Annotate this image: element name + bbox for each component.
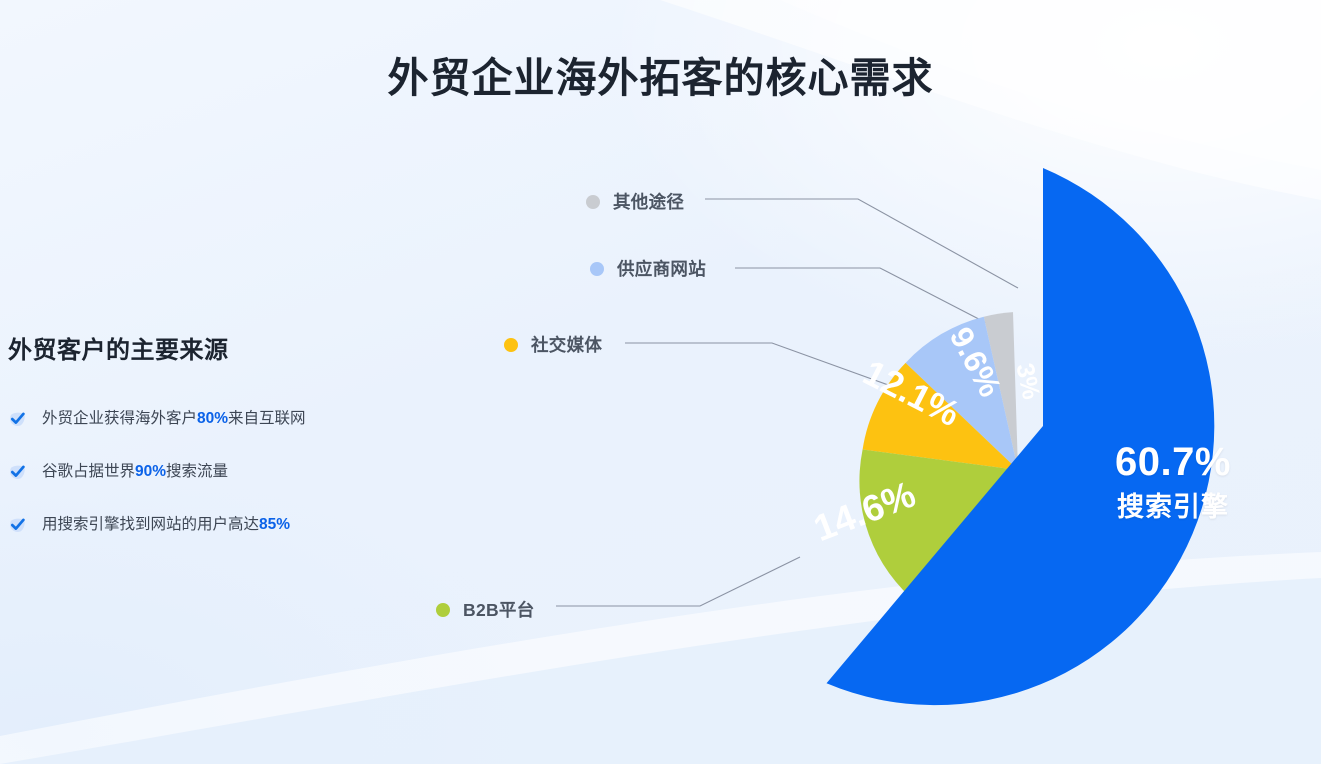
pie-chart: 3% 9.6% 12.1% 14.6%	[0, 0, 1321, 764]
legend-dot-b2b	[436, 603, 450, 617]
legend-item-other[interactable]: 其他途径	[586, 189, 684, 214]
slice-name-search-engine: 搜索引擎	[1063, 494, 1283, 521]
legend-dot-supplier	[590, 262, 604, 276]
legend-dot-other	[586, 195, 600, 209]
legend-label-b2b: B2B平台	[463, 597, 535, 622]
slide-canvas: 外贸企业海外拓客的核心需求 外贸客户的主要来源 外贸企业获得海外客户80%来自互…	[0, 0, 1321, 764]
leader-line-other	[705, 199, 1018, 288]
legend-item-supplier[interactable]: 供应商网站	[590, 256, 706, 281]
legend-label-social: 社交媒体	[531, 332, 602, 357]
leader-line-b2b	[556, 557, 800, 606]
legend-label-supplier: 供应商网站	[617, 256, 706, 281]
legend-item-b2b[interactable]: B2B平台	[436, 597, 535, 622]
leader-line-supplier	[735, 268, 1000, 330]
legend-item-social[interactable]: 社交媒体	[504, 332, 602, 357]
slice-label-search-engine: 60.7% 搜索引擎	[1063, 442, 1283, 521]
slice-percent-search-engine: 60.7%	[1063, 442, 1283, 482]
legend-label-other: 其他途径	[613, 189, 684, 214]
legend-dot-social	[504, 338, 518, 352]
